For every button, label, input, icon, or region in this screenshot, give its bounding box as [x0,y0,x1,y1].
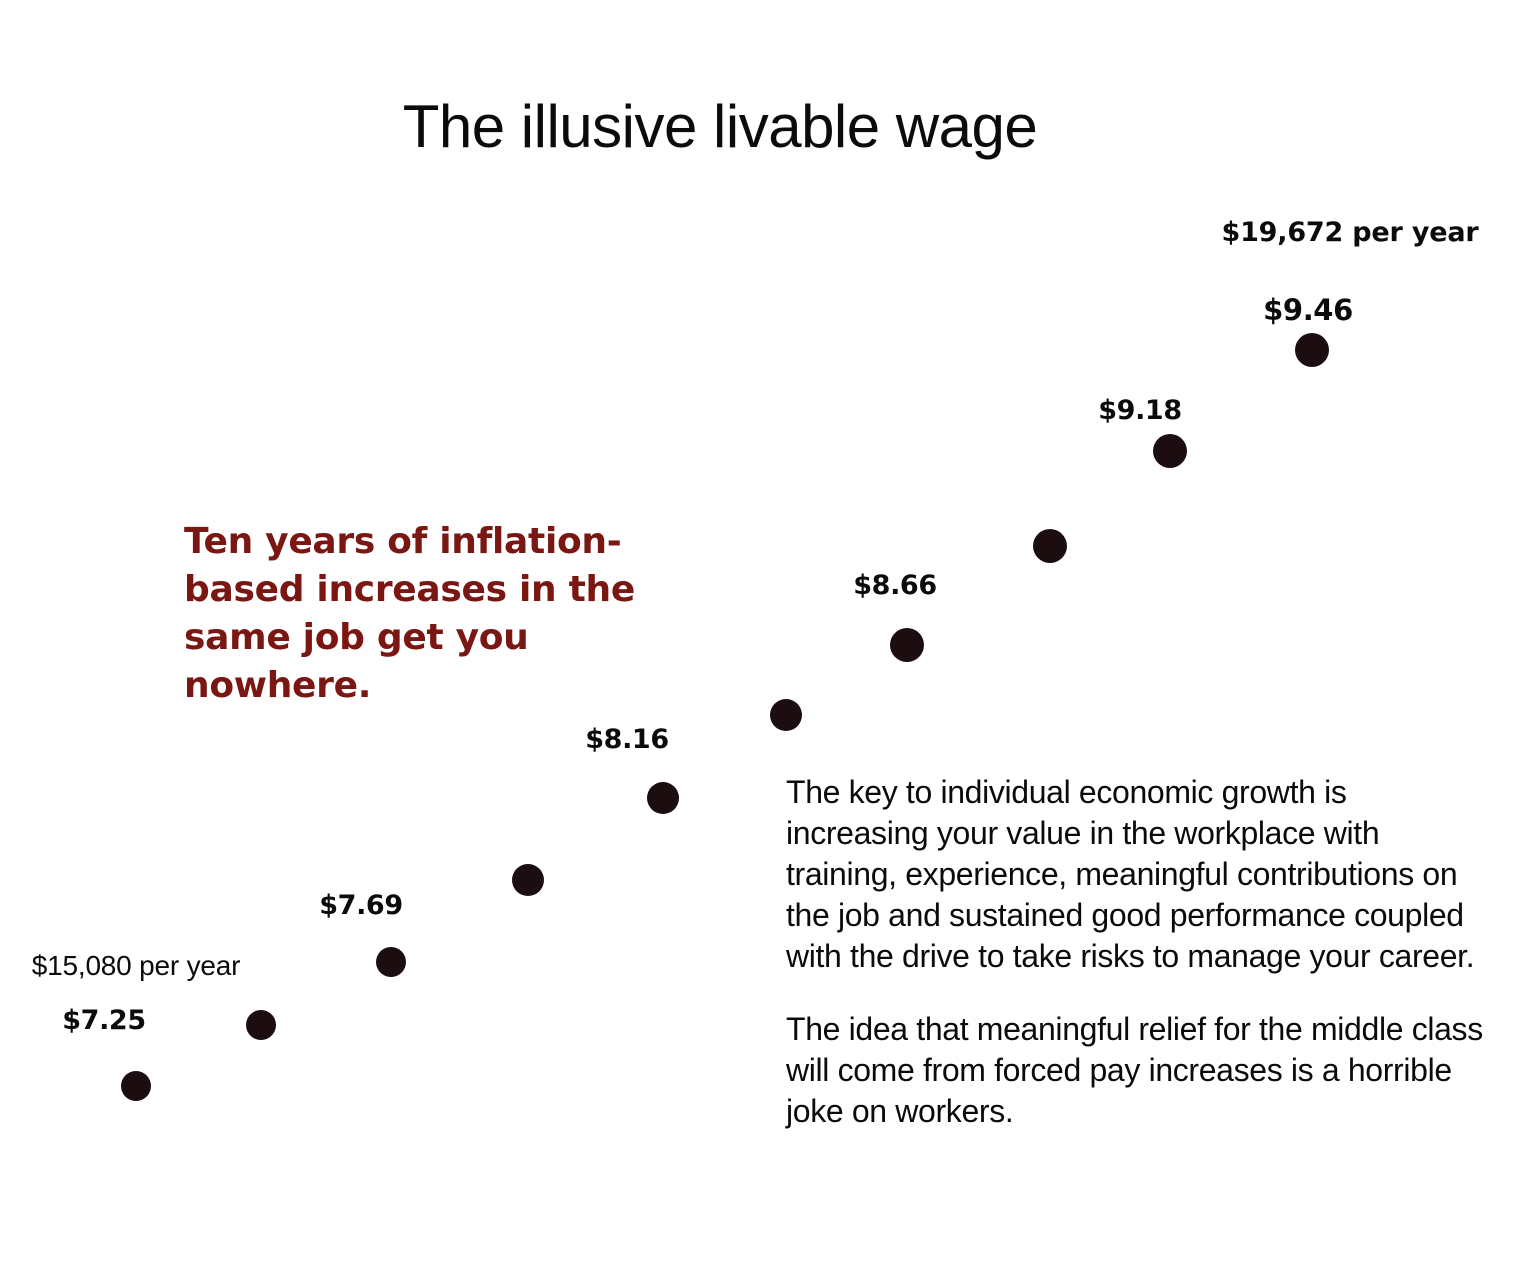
body-paragraph-2: The idea that meaningful relief for the … [786,1009,1496,1132]
data-point [121,1071,151,1101]
data-point [512,864,544,896]
callout-text: Ten years of inflation-based increases i… [184,518,664,710]
data-point-label: $9.46 [1263,293,1353,327]
data-point [1295,333,1329,367]
data-point-label: $8.16 [585,724,668,755]
data-point [770,699,802,731]
data-point [376,947,406,977]
body-paragraph-1: The key to individual economic growth is… [786,772,1496,977]
data-point-label: $8.66 [853,570,936,601]
data-point [246,1010,276,1040]
infographic-canvas: The illusive livable wage $7.25$7.69$8.1… [0,0,1536,1286]
data-point [1033,529,1067,563]
annual-wage-annotation: $19,672 per year [1222,217,1479,248]
data-point-label: $7.69 [319,890,402,921]
data-point [1153,434,1187,468]
data-point-label: $9.18 [1098,395,1181,426]
annual-wage-annotation: $15,080 per year [32,950,241,982]
data-point [647,782,679,814]
data-point-label: $7.25 [62,1005,145,1036]
body-copy: The key to individual economic growth is… [786,772,1496,1132]
data-point [890,628,924,662]
